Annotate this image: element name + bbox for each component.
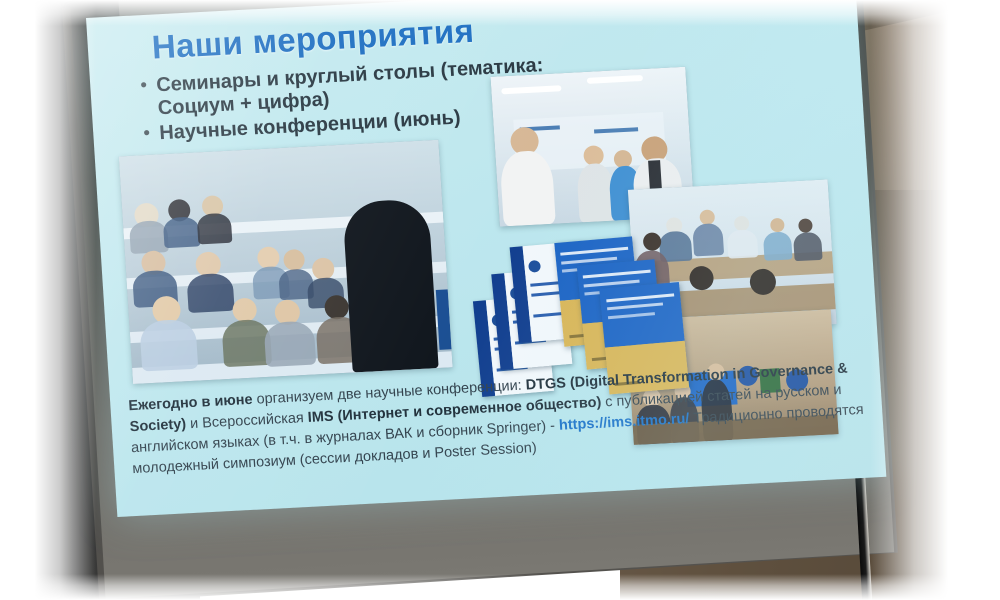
conference-link[interactable]: https://ims.itmo.ru/: [558, 411, 689, 434]
slide-title: Наши мероприятия: [151, 12, 475, 67]
paragraph-seg-4: и Всероссийская: [186, 410, 309, 432]
photo-lecture-hall-audience: [119, 140, 453, 384]
paragraph-seg-1: Ежегодно в июне: [128, 392, 253, 414]
screenshot-root: Наши мероприятия • Семинары и круглый ст…: [0, 0, 1000, 600]
speaker-silhouette: [342, 198, 439, 372]
projected-slide: Наши мероприятия • Семинары и круглый ст…: [86, 0, 886, 517]
bullet-marker-icon: •: [143, 122, 160, 145]
bullet-marker-icon: •: [140, 74, 157, 97]
